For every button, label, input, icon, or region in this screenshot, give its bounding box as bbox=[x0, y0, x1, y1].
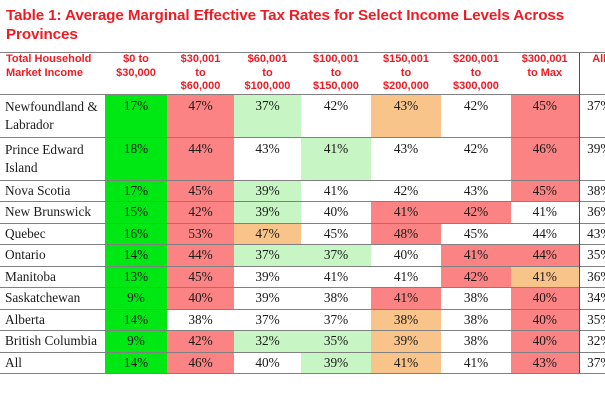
data-cell: 42% bbox=[301, 94, 371, 137]
table-row: Newfoundland & Labrador17%47%37%42%43%42… bbox=[0, 94, 605, 137]
data-cell: 45% bbox=[511, 94, 579, 137]
table-row: New Brunswick15%42%39%40%41%42%41%36% bbox=[0, 202, 605, 224]
data-cell: 32% bbox=[234, 331, 301, 353]
data-cell: 53% bbox=[167, 223, 234, 245]
data-cell: 41% bbox=[441, 245, 511, 267]
data-cell: 16% bbox=[105, 223, 167, 245]
data-cell: 35% bbox=[579, 245, 605, 267]
data-cell: 13% bbox=[105, 266, 167, 288]
row-label: New Brunswick bbox=[0, 202, 105, 224]
data-cell: 41% bbox=[371, 352, 441, 374]
data-cell: 42% bbox=[167, 202, 234, 224]
data-cell: 47% bbox=[167, 94, 234, 137]
column-header-8: All bbox=[579, 53, 605, 95]
data-cell: 37% bbox=[301, 245, 371, 267]
data-cell: 48% bbox=[371, 223, 441, 245]
column-header-6: $200,001to$300,000 bbox=[441, 53, 511, 95]
data-cell: 9% bbox=[105, 331, 167, 353]
data-cell: 40% bbox=[511, 331, 579, 353]
data-cell: 46% bbox=[511, 137, 579, 180]
data-cell: 17% bbox=[105, 180, 167, 202]
data-cell: 40% bbox=[301, 202, 371, 224]
data-cell: 44% bbox=[167, 137, 234, 180]
data-cell: 38% bbox=[167, 309, 234, 331]
row-label: Alberta bbox=[0, 309, 105, 331]
data-cell: 39% bbox=[234, 180, 301, 202]
table-row: Saskatchewan9%40%39%38%41%38%40%34% bbox=[0, 288, 605, 310]
data-cell: 36% bbox=[579, 202, 605, 224]
column-header-2: $30,001to$60,000 bbox=[167, 53, 234, 95]
data-cell: 42% bbox=[371, 180, 441, 202]
data-cell: 46% bbox=[167, 352, 234, 374]
data-cell: 45% bbox=[511, 180, 579, 202]
data-cell: 37% bbox=[579, 94, 605, 137]
data-cell: 45% bbox=[301, 223, 371, 245]
column-header-4: $100,001to$150,000 bbox=[301, 53, 371, 95]
data-cell: 36% bbox=[579, 266, 605, 288]
data-cell: 44% bbox=[511, 245, 579, 267]
data-cell: 43% bbox=[511, 352, 579, 374]
data-cell: 42% bbox=[441, 202, 511, 224]
data-cell: 41% bbox=[301, 137, 371, 180]
data-cell: 42% bbox=[167, 331, 234, 353]
table-row: Nova Scotia17%45%39%41%42%43%45%38% bbox=[0, 180, 605, 202]
data-cell: 37% bbox=[234, 94, 301, 137]
table-row: British Columbia9%42%32%35%39%38%40%32% bbox=[0, 331, 605, 353]
data-cell: 41% bbox=[511, 266, 579, 288]
data-cell: 45% bbox=[167, 266, 234, 288]
table-row: Ontario14%44%37%37%40%41%44%35% bbox=[0, 245, 605, 267]
data-cell: 39% bbox=[371, 331, 441, 353]
data-cell: 40% bbox=[371, 245, 441, 267]
data-cell: 40% bbox=[511, 288, 579, 310]
tax-rates-table: Total HouseholdMarket Income$0 to$30,000… bbox=[0, 52, 605, 374]
data-cell: 43% bbox=[371, 94, 441, 137]
data-cell: 47% bbox=[234, 223, 301, 245]
table-body: Newfoundland & Labrador17%47%37%42%43%42… bbox=[0, 94, 605, 374]
table-figure: Table 1: Average Marginal Effective Tax … bbox=[0, 0, 605, 408]
column-header-7: $300,001to Max bbox=[511, 53, 579, 95]
data-cell: 15% bbox=[105, 202, 167, 224]
data-cell: 44% bbox=[167, 245, 234, 267]
column-header-row-label: Total HouseholdMarket Income bbox=[0, 53, 105, 95]
data-cell: 39% bbox=[234, 266, 301, 288]
data-cell: 35% bbox=[301, 331, 371, 353]
row-label: Saskatchewan bbox=[0, 288, 105, 310]
row-label: Newfoundland & Labrador bbox=[0, 94, 105, 137]
data-cell: 38% bbox=[441, 309, 511, 331]
data-cell: 41% bbox=[371, 288, 441, 310]
data-cell: 17% bbox=[105, 94, 167, 137]
column-header-5: $150,001to$200,000 bbox=[371, 53, 441, 95]
data-cell: 40% bbox=[167, 288, 234, 310]
data-cell: 43% bbox=[579, 223, 605, 245]
data-cell: 42% bbox=[441, 94, 511, 137]
data-cell: 14% bbox=[105, 245, 167, 267]
data-cell: 37% bbox=[301, 309, 371, 331]
data-cell: 41% bbox=[371, 202, 441, 224]
data-cell: 32% bbox=[579, 331, 605, 353]
page-title: Table 1: Average Marginal Effective Tax … bbox=[0, 0, 605, 44]
data-cell: 39% bbox=[579, 137, 605, 180]
table-row: Quebec16%53%47%45%48%45%44%43% bbox=[0, 223, 605, 245]
table-row: Alberta14%38%37%37%38%38%40%35% bbox=[0, 309, 605, 331]
data-cell: 18% bbox=[105, 137, 167, 180]
row-label: Manitoba bbox=[0, 266, 105, 288]
data-cell: 37% bbox=[234, 245, 301, 267]
data-cell: 14% bbox=[105, 309, 167, 331]
data-cell: 38% bbox=[441, 288, 511, 310]
data-cell: 38% bbox=[301, 288, 371, 310]
data-cell: 9% bbox=[105, 288, 167, 310]
table-row: Prince Edward Island18%44%43%41%43%42%46… bbox=[0, 137, 605, 180]
data-cell: 38% bbox=[579, 180, 605, 202]
data-cell: 39% bbox=[234, 288, 301, 310]
data-cell: 41% bbox=[511, 202, 579, 224]
data-cell: 41% bbox=[301, 266, 371, 288]
data-cell: 14% bbox=[105, 352, 167, 374]
table-row: All14%46%40%39%41%41%43%37% bbox=[0, 352, 605, 374]
table-row: Manitoba13%45%39%41%41%42%41%36% bbox=[0, 266, 605, 288]
data-cell: 39% bbox=[234, 202, 301, 224]
data-cell: 35% bbox=[579, 309, 605, 331]
data-cell: 41% bbox=[441, 352, 511, 374]
data-cell: 41% bbox=[301, 180, 371, 202]
data-cell: 41% bbox=[371, 266, 441, 288]
row-label: British Columbia bbox=[0, 331, 105, 353]
data-cell: 42% bbox=[441, 266, 511, 288]
data-cell: 38% bbox=[371, 309, 441, 331]
header-row: Total HouseholdMarket Income$0 to$30,000… bbox=[0, 53, 605, 95]
data-cell: 34% bbox=[579, 288, 605, 310]
column-header-3: $60,001to$100,000 bbox=[234, 53, 301, 95]
data-cell: 44% bbox=[511, 223, 579, 245]
column-header-1: $0 to$30,000 bbox=[105, 53, 167, 95]
data-cell: 38% bbox=[441, 331, 511, 353]
data-cell: 43% bbox=[371, 137, 441, 180]
row-label: All bbox=[0, 352, 105, 374]
row-label: Nova Scotia bbox=[0, 180, 105, 202]
data-cell: 40% bbox=[234, 352, 301, 374]
data-cell: 42% bbox=[441, 137, 511, 180]
data-cell: 37% bbox=[579, 352, 605, 374]
row-label: Quebec bbox=[0, 223, 105, 245]
row-label: Prince Edward Island bbox=[0, 137, 105, 180]
data-cell: 39% bbox=[301, 352, 371, 374]
data-cell: 43% bbox=[234, 137, 301, 180]
data-cell: 45% bbox=[167, 180, 234, 202]
table-header: Total HouseholdMarket Income$0 to$30,000… bbox=[0, 53, 605, 95]
data-cell: 40% bbox=[511, 309, 579, 331]
row-label: Ontario bbox=[0, 245, 105, 267]
data-cell: 37% bbox=[234, 309, 301, 331]
data-cell: 43% bbox=[441, 180, 511, 202]
data-cell: 45% bbox=[441, 223, 511, 245]
